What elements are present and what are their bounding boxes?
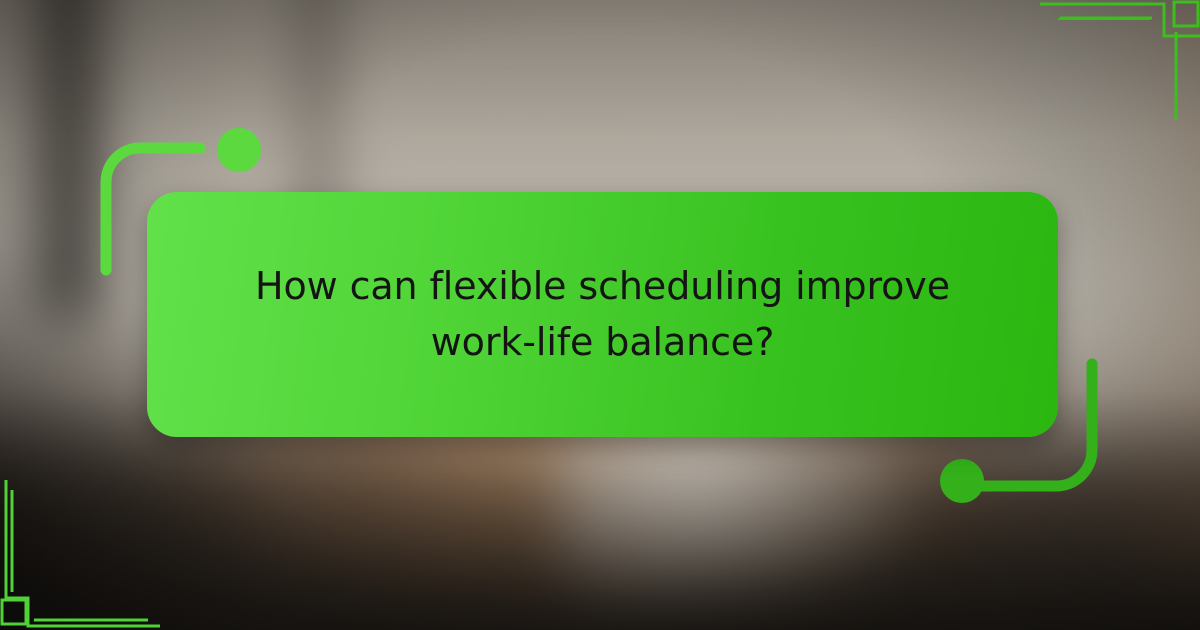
question-card-banner: How can flexible scheduling improve work…: [0, 0, 1200, 630]
accent-dot-top: [217, 128, 261, 172]
question-text: How can flexible scheduling improve work…: [205, 259, 1000, 370]
question-card: How can flexible scheduling improve work…: [147, 192, 1058, 437]
accent-dot-bottom: [940, 459, 984, 503]
